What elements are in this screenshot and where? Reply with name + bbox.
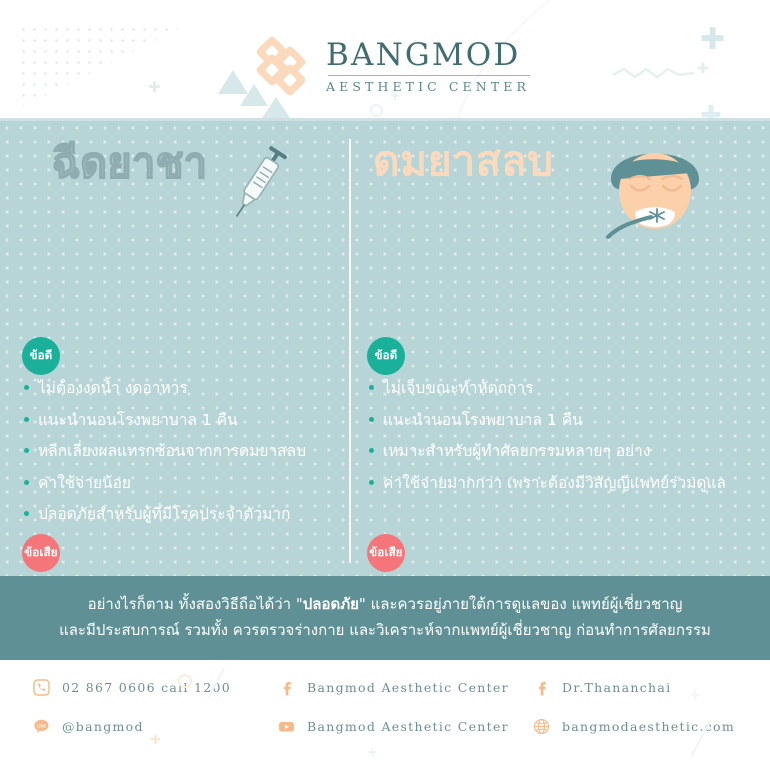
pros-list-left: ไม่ต้องงดน้ำ งดอาหาร แนะนำนอนโรงพยาบาล 1… [22, 376, 342, 534]
list-item: ค่าใช้จ่ายน้อย [22, 471, 342, 496]
list-item: แนะนำนอนโรงพยาบาล 1 คืน [367, 408, 767, 433]
cross-decor-icon: ✚ [700, 25, 725, 55]
column-title: ฉีดยาชา [52, 143, 207, 184]
list-item: ไม่ต้องงดน้ำ งดอาหาร [22, 376, 342, 401]
svg-text:LINE: LINE [37, 723, 47, 728]
column-divider [349, 139, 351, 563]
note-text-before: อย่างไรก็ตาม ทั้งสองวิธีถือได้ว่า " [88, 595, 303, 613]
contact-label: Bangmod Aesthetic Center [307, 680, 509, 695]
list-item: ค่าใช้จ่ายมากกว่า เพราะต้องมีวิสัญญีแพทย… [367, 471, 767, 496]
cross-decor-icon: ✚ [148, 80, 161, 95]
column-title: ดมยาสลบ [373, 141, 553, 182]
cross-decor-icon: ✚ [700, 103, 722, 118]
cross-decor-icon: ✚ [697, 62, 709, 76]
phone-icon [32, 678, 51, 697]
note-text-bold: ปลอดภัย [303, 595, 359, 613]
note-banner: อย่างไรก็ตาม ทั้งสองวิธีถือได้ว่า "ปลอดภ… [0, 576, 770, 660]
youtube-icon [277, 717, 296, 736]
list-item: แนะนำนอนโรงพยาบาล 1 คืน [22, 408, 342, 433]
contact-facebook-page[interactable]: Bangmod Aesthetic Center [277, 678, 532, 697]
anesthesia-face-mask-icon [594, 129, 719, 241]
zigzag-decor-icon [612, 66, 696, 80]
infographic-page: ✚ ✚ ✚ ✚ ✚ ✚ BANGMOD AESTHETIC CENTER [0, 0, 770, 770]
page-footer: ✚ ✚ ✚ 02 867 0606 call 1200 [0, 660, 770, 770]
contact-label: @bangmod [62, 719, 144, 734]
triangle-decor-icon [262, 97, 290, 118]
line-chat-icon: LINE [32, 717, 51, 736]
diamond-cluster-icon [256, 38, 312, 96]
contact-label: Dr.Thananchai [562, 680, 671, 695]
comparison-panel: ฉีดยาชา ข้อดี ไ [0, 118, 770, 576]
facebook-icon [277, 678, 296, 697]
contact-label: Bangmod Aesthetic Center [307, 719, 509, 734]
brand-tagline: AESTHETIC CENTER [326, 79, 530, 94]
page-header: ✚ ✚ ✚ ✚ ✚ ✚ BANGMOD AESTHETIC CENTER [0, 0, 770, 118]
globe-icon [532, 717, 551, 736]
note-line-2: และมีประสบการณ์ รวมทั้ง ควรตรวจร่างกาย แ… [59, 620, 711, 642]
circle-outline-decor-icon [370, 104, 383, 117]
pros-badge-right: ข้อดี [367, 337, 405, 375]
cross-decor-icon: ✚ [150, 733, 161, 748]
contact-youtube[interactable]: Bangmod Aesthetic Center [277, 717, 532, 736]
dot-triangle-pattern-icon [18, 24, 188, 109]
cons-badge-right: ข้อเสีย [367, 534, 405, 572]
brand-logo: BANGMOD AESTHETIC CENTER [256, 38, 530, 96]
cross-decor-icon: ✚ [690, 688, 700, 702]
syringe-icon [222, 139, 296, 225]
cross-decor-icon: ✚ [368, 746, 377, 759]
brand-name: BANGMOD [326, 40, 530, 72]
note-line-1: อย่างไรก็ตาม ทั้งสองวิธีถือได้ว่า "ปลอดภ… [88, 594, 683, 616]
pros-list-right: ไม่เจ็บขณะทำหัตถการ แนะนำนอนโรงพยาบาล 1 … [367, 376, 767, 502]
contact-phone[interactable]: 02 867 0606 call 1200 [32, 678, 277, 697]
list-item: เหมาะสำหรับผู้ทำศัลยกรรมหลายๆ อย่าง [367, 439, 767, 464]
pros-badge-left: ข้อดี [22, 337, 60, 375]
facebook-icon [532, 678, 551, 697]
circle-outline-decor-icon [178, 674, 192, 688]
list-item: ไม่เจ็บขณะทำหัตถการ [367, 376, 767, 401]
list-item: ปลอดภัยสำหรับผู้ที่มีโรคประจำตัวมาก [22, 502, 342, 527]
brand-divider [328, 75, 530, 76]
contact-facebook-doctor[interactable]: Dr.Thananchai [532, 678, 738, 697]
cons-badge-left: ข้อเสีย [22, 534, 60, 572]
list-item: หลีกเลี่ยงผลแทรกซ้อนจากการดมยาสลบ [22, 439, 342, 464]
contact-label: 02 867 0606 call 1200 [62, 680, 231, 695]
contact-grid: 02 867 0606 call 1200 Bangmod Aesthetic … [32, 678, 738, 736]
note-text-after: " และควรอยู่ภายใต้การดูแลของ แพทย์ผู้เชี… [359, 595, 683, 613]
